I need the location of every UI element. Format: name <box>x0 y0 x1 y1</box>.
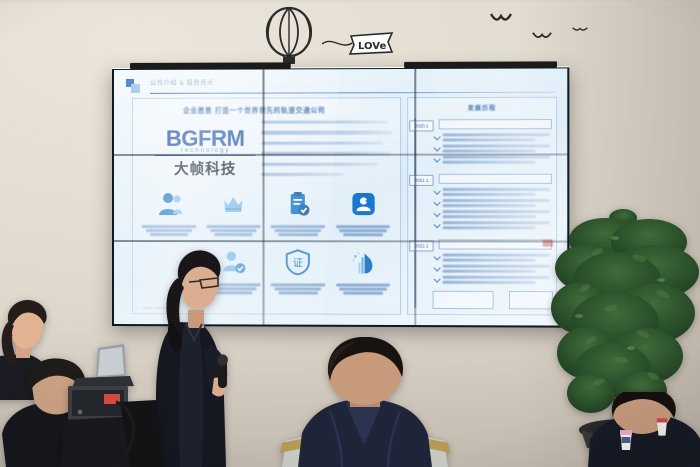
paragraph-line-1 <box>262 120 389 124</box>
vision-paragraph <box>262 120 394 183</box>
bird-decal-1 <box>490 12 512 24</box>
paragraph-line-6 <box>262 173 344 176</box>
timeline-detail-line <box>443 138 536 141</box>
company-mark-icon <box>126 79 142 93</box>
timeline-detail-line <box>443 221 550 224</box>
bezel-vertical-2 <box>414 67 416 327</box>
timeline-check-icon <box>434 253 441 260</box>
users-group-icon <box>156 191 182 217</box>
feature-cell-6[interactable]: 证 <box>266 249 331 296</box>
timeline-detail-line <box>443 199 550 202</box>
love-banner-decal: LOVe <box>322 28 394 58</box>
feature-caption <box>331 284 396 295</box>
bgfrm-wordmark: BGFRM <box>151 129 259 149</box>
timeline-detail-line <box>443 276 550 279</box>
timeline-detail-line <box>443 265 550 268</box>
timeline-footer-left <box>433 291 494 309</box>
svg-text:证: 证 <box>293 257 303 269</box>
timeline-title: 发展历程 <box>408 103 556 112</box>
paper-cup <box>618 428 634 450</box>
feature-cell-1[interactable] <box>137 191 201 238</box>
timeline-check-icon <box>434 199 441 206</box>
screen-top-mount-left <box>130 62 291 69</box>
timeline-check-icon <box>434 276 441 283</box>
feature-cell-3[interactable] <box>266 191 331 238</box>
feature-cell-7[interactable] <box>331 249 396 296</box>
timeline-year: 2021.1 <box>409 175 433 186</box>
paragraph-line-3 <box>262 141 383 145</box>
timeline-headline <box>439 174 552 184</box>
feature-caption <box>331 225 396 236</box>
hot-air-balloon-decal <box>258 6 320 64</box>
timeline-check-icon <box>434 210 441 217</box>
timeline-detail-line <box>443 281 536 284</box>
clipboard-check-icon <box>285 191 311 217</box>
feature-caption <box>137 225 201 236</box>
timeline-check-icon <box>434 133 441 140</box>
vision-statement: 企业愿景 打造一个世界领先的轨道交通公司 <box>183 104 325 114</box>
bezel-vertical-1 <box>263 67 265 326</box>
timeline-detail-line <box>443 161 536 164</box>
timeline-check-icon <box>434 145 441 152</box>
timeline-year: 2020.1 <box>409 120 433 131</box>
timeline-detail-line <box>443 156 550 159</box>
feature-cell-2[interactable] <box>201 191 266 238</box>
love-banner-text: LOVe <box>358 41 386 52</box>
bgfrm-chinese-name: 大帧科技 <box>151 158 259 179</box>
paragraph-line-2 <box>262 131 393 135</box>
timeline-check-icon <box>434 265 441 272</box>
timeline-detail-line <box>443 188 550 191</box>
slide-header: 公司介绍 & 投资亮点 <box>124 75 557 98</box>
av-equipment-cart <box>60 342 175 467</box>
certificate-shield-icon: 证 <box>285 249 311 275</box>
timeline-detail-line <box>443 215 536 218</box>
slide-header-title: 公司介绍 & 投资亮点 <box>150 78 214 87</box>
timeline-detail-line <box>443 193 536 196</box>
audience-man-right <box>588 392 700 467</box>
feature-caption <box>266 283 331 294</box>
paragraph-line-5 <box>262 162 378 166</box>
feature-cell-4[interactable] <box>331 191 396 238</box>
timeline-detail-line <box>443 270 536 273</box>
feature-caption <box>201 225 266 236</box>
timeline-detail-line <box>443 133 550 136</box>
timeline-check-icon <box>434 156 441 163</box>
timeline-detail-line <box>443 254 550 257</box>
audience-man-center <box>272 337 458 467</box>
slide-right-panel: 发展历程 2020.12021.12022.1 <box>407 97 557 316</box>
bird-decal-2 <box>532 30 552 41</box>
paper-cup-2 <box>655 416 669 436</box>
timeline-detail-line <box>443 259 536 262</box>
feature-caption <box>266 225 331 236</box>
screen-top-mount-right <box>404 61 557 68</box>
building-sparkle-icon <box>350 249 376 275</box>
timeline-detail-line <box>443 210 550 213</box>
timeline-detail-line <box>443 226 536 229</box>
header-divider <box>150 92 555 95</box>
timeline-headline <box>439 119 552 129</box>
timeline-detail-line <box>443 149 536 152</box>
bird-decal-3 <box>572 24 588 33</box>
timeline-detail-line <box>443 144 550 147</box>
timeline-detail-line <box>443 204 536 207</box>
timeline-check-icon <box>434 221 441 228</box>
user-transfer-icon <box>350 191 376 217</box>
timeline-check-icon <box>434 188 441 195</box>
crown-icon <box>220 191 246 217</box>
room-scene: LOVe 公司介绍 & 投资亮点 企 <box>0 0 700 467</box>
